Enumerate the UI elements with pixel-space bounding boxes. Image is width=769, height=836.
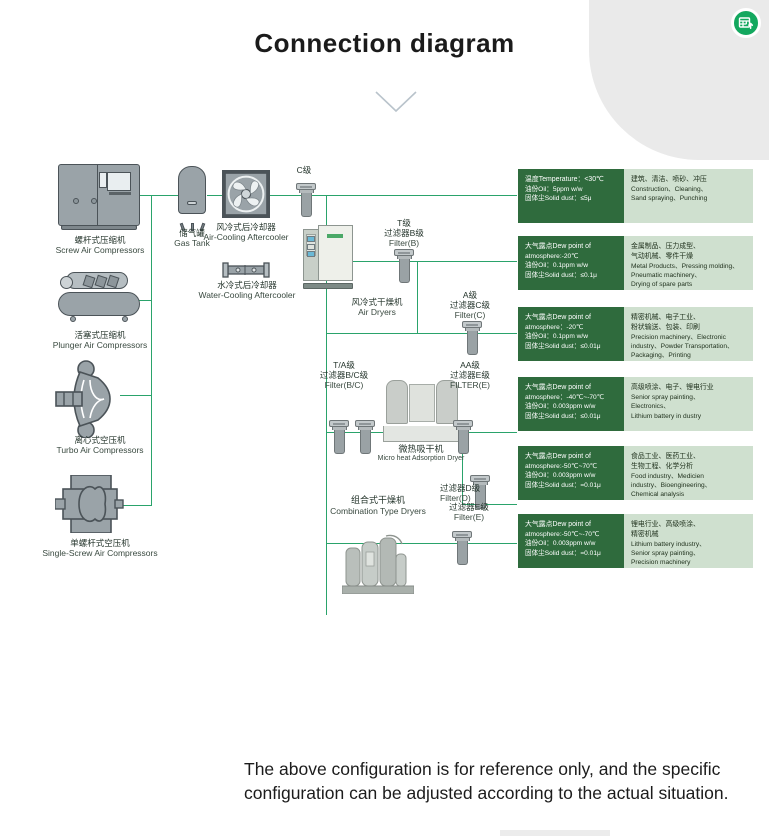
spec-left: 温度Temperature：<30℃ 油份Oil：5ppm w/w 固体尘Sol…	[518, 169, 624, 223]
table-upload-icon[interactable]	[731, 8, 761, 38]
label-filter-e: 过滤器E级 Filter(E)	[438, 502, 500, 522]
air-dryer-icon	[303, 225, 353, 285]
label-combination-dryer: 组合式干燥机 Combination Type Dryers	[320, 495, 436, 516]
line-filterc-vertical	[417, 261, 418, 333]
spec-left: 大气露点Dew point of atmosphere：-20℃ 油份Oil：0…	[518, 307, 624, 361]
spec-left: 大气露点Dew point of atmosphere:-20℃ 油份Oil：0…	[518, 236, 624, 290]
spec-right: 精密机械、电子工业、 粉状输送、包装、印刷 Precision machiner…	[624, 307, 753, 361]
label-air-dryer: 风冷式干燥机 Air Dryers	[338, 297, 416, 317]
chevron-down-icon	[374, 90, 418, 114]
combination-dryer-icon	[342, 532, 414, 599]
filter-icon	[394, 249, 414, 283]
filter-icon	[453, 420, 473, 454]
spec-left: 大气露点Dew point of atmosphere:-50℃~70℃ 油份O…	[518, 446, 624, 500]
line-bus-to-tank	[151, 195, 179, 196]
label-filter-e-aa: AA级 过滤器E级 FILTER(E)	[436, 360, 504, 390]
footer-note: The above configuration is for reference…	[244, 758, 754, 806]
line-air-dryer-row	[326, 261, 517, 262]
spec-row: 大气露点Dew point of atmosphere:-50℃~-70℃ 油份…	[518, 514, 753, 568]
spec-right: 高级喷涂、电子、锂电行业 Senior spray painting、 Elec…	[624, 377, 753, 431]
spec-right: 锂电行业、高级喷涂、 精密机械 Lithium battery industry…	[624, 514, 753, 568]
label-plunger-compressor: 活塞式压缩机 Plunger Air Compressors	[20, 330, 180, 350]
spec-right: 食品工业、医药工业、 生物工程、化学分析 Food industry、Medic…	[624, 446, 753, 500]
spec-right: 金属制品、压力成型、 气动机械、零件干燥 Metal Products、Pres…	[624, 236, 753, 290]
single-screw-compressor-icon	[55, 475, 125, 538]
label-filter-bc: T/A级 过滤器B/C级 Filter(B/C)	[310, 360, 378, 390]
screw-compressor-icon	[58, 164, 140, 226]
footer-strip	[500, 830, 610, 836]
label-filter-c: A级 过滤器C级 Filter(C)	[438, 290, 502, 320]
spec-row: 温度Temperature：<30℃ 油份Oil：5ppm w/w 固体尘Sol…	[518, 169, 753, 223]
label-filter-b: T级 过滤器B级 Filter(B)	[372, 218, 436, 248]
air-cooling-aftercooler-icon	[222, 170, 270, 223]
label-single-screw-compressor: 单螺杆式空压机 Single-Screw Air Compressors	[14, 538, 186, 558]
label-screw-compressor: 螺杆式压缩机 Screw Air Compressors	[20, 235, 180, 255]
filter-icon	[462, 321, 482, 355]
page-title: Connection diagram	[0, 28, 769, 59]
spec-row: 大气露点Dew point of atmosphere:-20℃ 油份Oil：0…	[518, 236, 753, 290]
connection-diagram-page: Connection diagram	[0, 0, 769, 836]
label-water-cooling-aftercooler: 水冷式后冷却器 Water-Cooling Aftercooler	[188, 280, 306, 300]
label-air-cooling-aftercooler: 风冷式后冷却器 Air-Cooling Aftercooler	[200, 222, 292, 242]
spec-row: 大气露点Dew point of atmosphere:-50℃~70℃ 油份O…	[518, 446, 753, 500]
spec-left: 大气露点Dew point of atmosphere：-40℃~-70℃ 油份…	[518, 377, 624, 431]
filter-icon	[452, 531, 472, 565]
spec-row: 大气露点Dew point of atmosphere：-20℃ 油份Oil：0…	[518, 307, 753, 361]
line-filterc-row	[326, 333, 517, 334]
gas-tank-icon	[178, 166, 206, 224]
label-filter-c-grade: C级	[283, 165, 325, 175]
label-filter-d: 过滤器D级 Filter(D)	[440, 483, 506, 503]
plunger-compressor-icon	[56, 272, 142, 322]
spec-left: 大气露点Dew point of atmosphere:-50℃~-70℃ 油份…	[518, 514, 624, 568]
label-turbo-compressor: 离心式空压机 Turbo Air Compressors	[20, 435, 180, 455]
spec-row: 大气露点Dew point of atmosphere：-40℃~-70℃ 油份…	[518, 377, 753, 431]
filter-icon	[296, 183, 316, 217]
turbo-compressor-icon	[48, 360, 126, 443]
spec-right: 建筑、清洁、喷砂、冲压 Construction、Cleaning、 Sand …	[624, 169, 753, 223]
filter-icon	[329, 420, 349, 454]
